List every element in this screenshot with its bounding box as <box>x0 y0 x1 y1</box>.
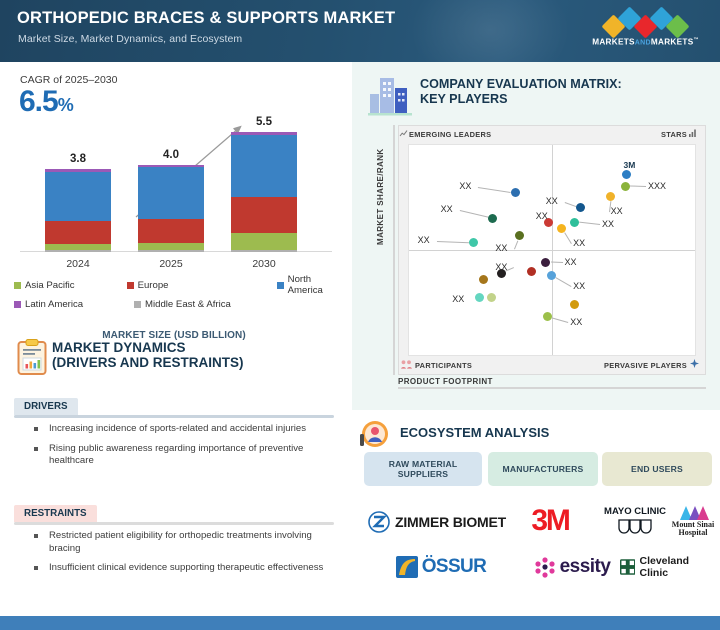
legend-label: Europe <box>138 280 169 291</box>
bar-segment-asia-pacific <box>138 243 204 250</box>
ecosystem-panel: ECOSYSTEM ANALYSIS RAW MATERIAL SUPPLIER… <box>352 412 720 607</box>
matrix-point-label-p9: XX <box>536 211 548 221</box>
legend-label: Latin America <box>25 299 83 310</box>
bar-segment-asia-pacific <box>231 233 297 250</box>
legend-row: Latin AmericaMiddle East & Africa <box>14 299 344 310</box>
cagr-number: 6.5 <box>19 85 58 118</box>
matrix-point-label-p1: XX <box>459 181 471 191</box>
left-panel: CAGR of 2025–2030 6.5% 3.84.05.5 2024202… <box>0 62 348 607</box>
company-logo-3m: 3M <box>510 502 590 540</box>
page-header: ORTHOPEDIC BRACES & SUPPORTS MARKET Mark… <box>0 0 720 62</box>
market-size-chart: 3.84.05.5 202420252030 <box>14 122 336 272</box>
legend-item-middle-east-africa: Middle East & Africa <box>134 299 294 310</box>
matrix-point-p5[interactable] <box>622 170 631 179</box>
ecosystem-chip-raw-material-suppliers[interactable]: RAW MATERIAL SUPPLIERS <box>364 452 482 486</box>
ossur-mark-icon <box>396 556 418 578</box>
driver-item: Rising public awareness regarding import… <box>26 443 336 468</box>
legend-item-europe: Europe <box>127 274 277 296</box>
matrix-point-p3[interactable] <box>469 238 478 247</box>
quadrant-label-participants: PARTICIPANTS <box>415 361 472 370</box>
legend-label: Middle East & Africa <box>145 299 231 310</box>
matrix-leader-line-p8 <box>564 202 575 207</box>
matrix-leader-line-p2 <box>459 210 487 218</box>
company-matrix-title: COMPANY EVALUATION MATRIX: KEY PLAYERS <box>420 77 622 107</box>
essity-mark-icon <box>534 556 556 578</box>
matrix-point-p15[interactable] <box>487 293 496 302</box>
mount-sinai-mark-icon <box>676 505 710 520</box>
matrix-point-p17[interactable] <box>541 258 550 267</box>
bar-segment-europe <box>138 219 204 243</box>
restraint-item: Insufficient clinical evidence supportin… <box>26 562 336 575</box>
matrix-point-p16[interactable] <box>527 267 536 276</box>
legend-item-north-america: North America <box>277 274 344 296</box>
matrix-top-labels: EMERGING LEADERS STARS <box>399 126 705 143</box>
drivers-list: Increasing incidence of sports-related a… <box>26 423 336 475</box>
company-logo-mount-sinai: Mount Sinai Hospital <box>670 498 716 544</box>
stacked-bar-2030 <box>231 132 297 252</box>
chart-legend: Asia PacificEuropeNorth AmericaLatin Ame… <box>14 274 344 313</box>
matrix-leader-line-p6 <box>630 185 646 187</box>
x-tick-label-2030: 2030 <box>231 258 297 270</box>
emerging-leaders-icon <box>399 129 408 138</box>
legend-swatch-icon <box>127 282 134 289</box>
company-matrix-title-line1: COMPANY EVALUATION MATRIX: <box>420 77 622 92</box>
header-glow <box>410 0 570 62</box>
ecosystem-chip-manufacturers[interactable]: MANUFACTURERS <box>488 452 598 486</box>
matrix-point-p4[interactable] <box>515 231 524 240</box>
matrix-bottom-labels: PARTICIPANTS PERVASIVE PLAYERS <box>399 357 705 374</box>
restraints-divider <box>14 522 334 525</box>
zimmer-biomet-mark-icon <box>368 511 390 533</box>
legend-swatch-icon <box>14 282 21 289</box>
matrix-leader-line-p11 <box>564 232 572 244</box>
y-axis-label: MARKET SHARE/RANK <box>376 125 385 245</box>
quadrant-label-pervasive-players: PERVASIVE PLAYERS <box>604 361 687 370</box>
ecosystem-chip-end-users[interactable]: END USERS <box>602 452 712 486</box>
stars-bars-icon <box>689 129 697 137</box>
matrix-point-label-p10: XX <box>602 219 614 229</box>
matrix-leader-line-p1 <box>478 187 510 193</box>
legend-item-latin-america: Latin America <box>14 299 134 310</box>
matrix-plot-area: XXXXXXXX3MXXXXXXXXXXXXXXXXXXXXXXX <box>408 144 696 356</box>
matrix-point-label-p3: XX <box>418 235 430 245</box>
driver-item: Increasing incidence of sports-related a… <box>26 423 336 436</box>
company-logo-mayo-clinic: MAYO CLINIC <box>604 500 666 542</box>
matrix-horizontal-divider <box>409 250 695 251</box>
bar-segment-middle-east-africa <box>45 250 111 252</box>
x-axis-arrow <box>398 387 706 389</box>
bar-total-label-2030: 5.5 <box>231 116 297 128</box>
logo-text-markets-1: MARKETS <box>592 38 635 47</box>
restraints-list: Restricted patient eligibility for ortho… <box>26 530 336 582</box>
company-label-mayo-clinic: MAYO CLINIC <box>604 507 666 517</box>
company-logo-ossur: ÖSSUR <box>366 552 516 582</box>
legend-swatch-icon <box>14 301 21 308</box>
person-badge-icon <box>360 420 392 452</box>
footer-bar <box>0 616 720 630</box>
matrix-point-label-p18: XX <box>573 281 585 291</box>
matrix-point-p10[interactable] <box>570 218 579 227</box>
page-subtitle: Market Size, Market Dynamics, and Ecosys… <box>18 33 242 45</box>
company-logo-zimmer-biomet: ZIMMER BIOMET <box>362 506 512 538</box>
legend-item-asia-pacific: Asia Pacific <box>14 274 127 296</box>
matrix-point-p2[interactable] <box>488 214 497 223</box>
matrix-point-label-p17: XX <box>565 257 577 267</box>
clipboard-chart-icon <box>17 339 47 375</box>
drivers-divider <box>14 415 334 418</box>
quadrant-label-stars: STARS <box>661 130 687 139</box>
matrix-point-label-p11: XX <box>573 238 585 248</box>
matrix-point-label-p4: XX <box>495 243 507 253</box>
bar-segment-north-america <box>138 167 204 218</box>
drivers-tag: DRIVERS <box>14 398 78 415</box>
restraints-tag: RESTRAINTS <box>14 505 97 522</box>
cleveland-clinic-mark-icon <box>620 559 635 575</box>
matrix-point-label-p5: 3M <box>624 160 636 170</box>
legend-swatch-icon <box>134 301 141 308</box>
matrix-point-p19[interactable] <box>570 300 579 309</box>
matrix-point-p8[interactable] <box>576 203 585 212</box>
market-dynamics-title-line1: MARKET DYNAMICS <box>52 341 244 356</box>
legend-swatch-icon <box>277 282 284 289</box>
bar-total-label-2025: 4.0 <box>138 149 204 161</box>
logo-wordmark: MARKETSANDMARKETS™ <box>583 37 708 47</box>
company-label-zimmer-biomet: ZIMMER BIOMET <box>395 514 506 530</box>
matrix-point-p18[interactable] <box>547 271 556 280</box>
company-matrix-title-line2: KEY PLAYERS <box>420 92 622 107</box>
matrix-point-label-p8: XX <box>546 196 558 206</box>
market-dynamics-title-line2: (DRIVERS AND RESTRAINTS) <box>52 356 244 371</box>
cagr-value: 6.5% <box>19 85 73 119</box>
matrix-point-label-p7: XX <box>611 206 623 216</box>
company-evaluation-panel: COMPANY EVALUATION MATRIX: KEY PLAYERS M… <box>352 62 720 410</box>
company-label-ossur: ÖSSUR <box>422 556 487 578</box>
company-label-3m: 3M <box>531 504 568 538</box>
cagr-unit: % <box>58 95 73 115</box>
matrix-point-p14[interactable] <box>475 293 484 302</box>
bar-segment-europe <box>231 197 297 233</box>
mayo-shields-icon <box>618 519 652 536</box>
bar-total-label-2024: 3.8 <box>45 153 111 165</box>
company-label-cleveland-clinic: Cleveland Clinic <box>639 555 718 579</box>
stacked-bar-2025 <box>138 165 204 252</box>
pervasive-players-icon <box>690 359 699 368</box>
matrix-point-label-p2: XX <box>441 204 453 214</box>
bar-segment-north-america <box>231 135 297 197</box>
logo-trademark: ™ <box>693 37 698 43</box>
matrix-point-label-p20: XX <box>570 317 582 327</box>
legend-row: Asia PacificEuropeNorth America <box>14 274 344 296</box>
matrix-point-label-p14: XX <box>452 294 464 304</box>
matrix-leader-line-p3 <box>437 241 469 243</box>
matrix-leader-line-p10 <box>580 222 601 225</box>
bar-segment-middle-east-africa <box>138 250 204 252</box>
bar-segment-europe <box>45 221 111 244</box>
matrix-frame: EMERGING LEADERS STARS XXXXXXXX3MXXXXXXX… <box>398 125 706 375</box>
logo-text-and: AND <box>635 40 651 47</box>
marketsandmarkets-logo: MARKETSANDMARKETS™ <box>583 10 708 52</box>
logo-text-markets-2: MARKETS <box>651 38 694 47</box>
matrix-leader-line-p18 <box>556 277 572 287</box>
legend-label: Asia Pacific <box>25 280 75 291</box>
buildings-icon <box>368 74 412 116</box>
quadrant-label-emerging-leaders: EMERGING LEADERS <box>409 130 491 139</box>
company-logo-essity: essity <box>512 552 632 582</box>
matrix-point-p1[interactable] <box>511 188 520 197</box>
matrix-leader-line-p4 <box>514 240 519 249</box>
matrix-leader-line-p20 <box>552 317 569 323</box>
company-label-mount-sinai: Mount Sinai Hospital <box>670 521 716 538</box>
company-label-essity: essity <box>560 556 611 578</box>
page-title: ORTHOPEDIC BRACES & SUPPORTS MARKET <box>17 9 395 28</box>
matrix-point-p7[interactable] <box>606 192 615 201</box>
x-tick-label-2024: 2024 <box>45 258 111 270</box>
matrix-point-p13[interactable] <box>479 275 488 284</box>
ecosystem-title: ECOSYSTEM ANALYSIS <box>400 425 549 440</box>
stacked-bar-2024 <box>45 169 111 252</box>
market-dynamics-title: MARKET DYNAMICS (DRIVERS AND RESTRAINTS) <box>52 341 244 370</box>
participants-people-icon <box>401 360 412 369</box>
bar-segment-north-america <box>45 172 111 221</box>
company-logo-cleveland-clinic: Cleveland Clinic <box>620 554 718 580</box>
x-tick-label-2025: 2025 <box>138 258 204 270</box>
y-axis-arrow <box>393 125 395 375</box>
bar-segment-middle-east-africa <box>231 250 297 252</box>
legend-label: North America <box>288 274 344 296</box>
restraint-item: Restricted patient eligibility for ortho… <box>26 530 336 555</box>
x-axis-label: PRODUCT FOOTPRINT <box>398 377 493 386</box>
matrix-point-p6[interactable] <box>621 182 630 191</box>
evaluation-matrix: MARKET SHARE/RANK EMERGING LEADERS STARS… <box>380 125 706 387</box>
matrix-point-label-p6: XXX <box>648 181 666 191</box>
matrix-point-p20[interactable] <box>543 312 552 321</box>
